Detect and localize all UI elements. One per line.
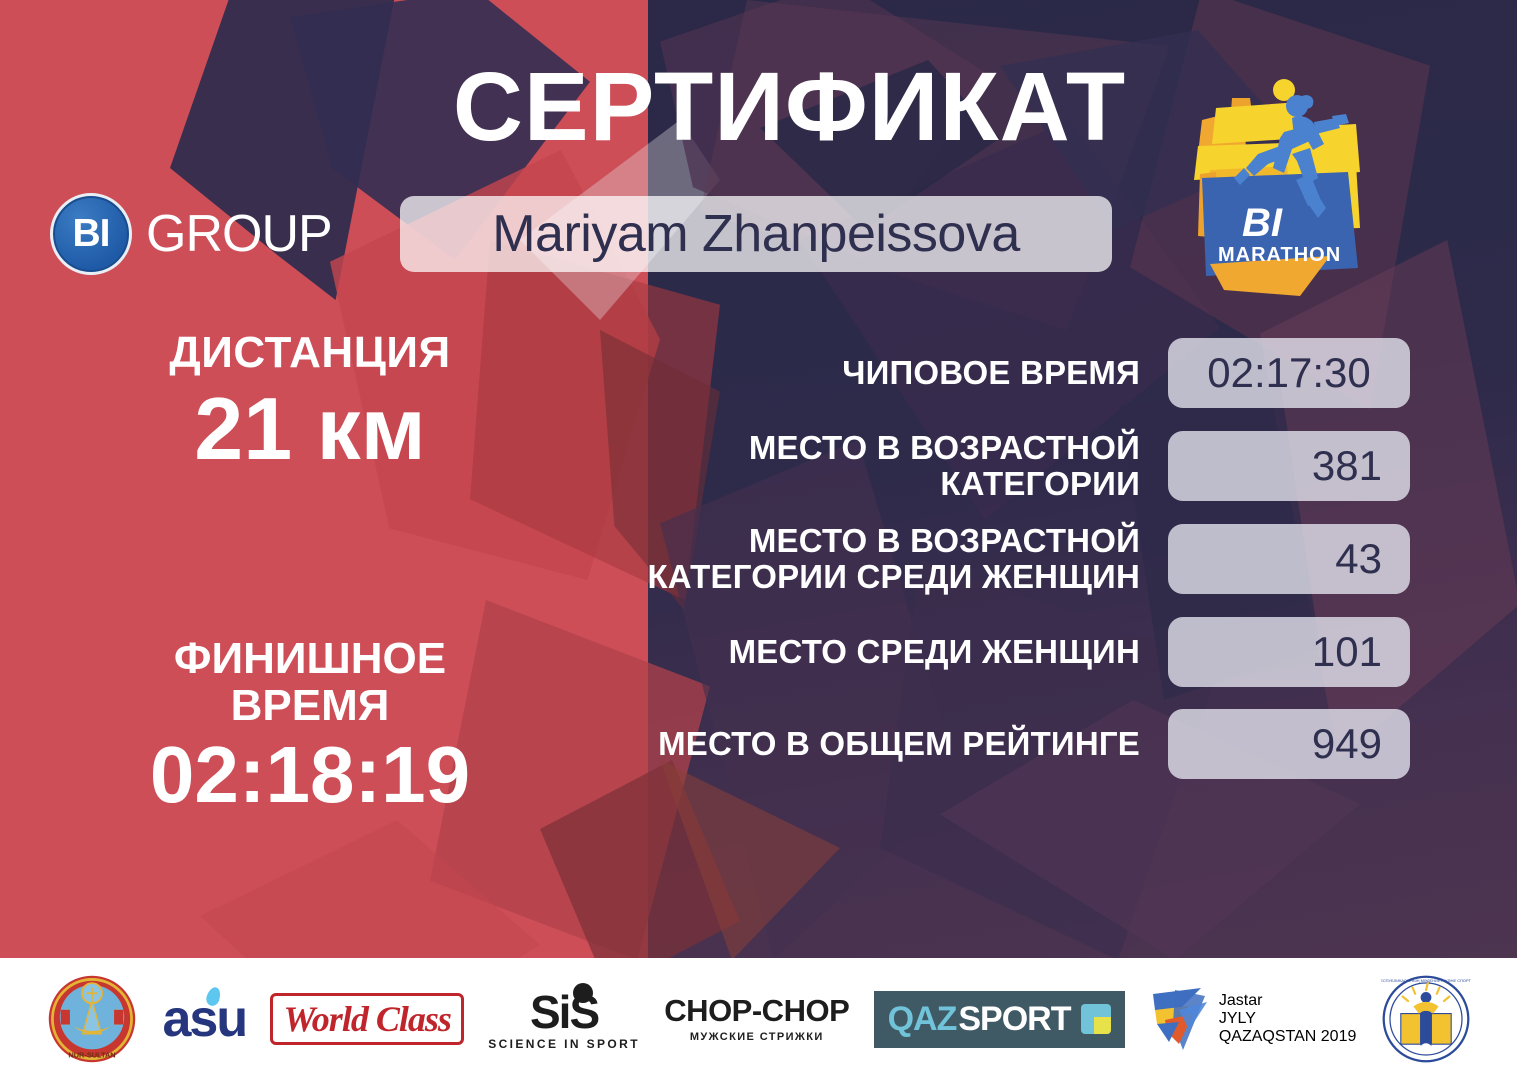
result-value: 02:17:30 bbox=[1168, 338, 1410, 408]
result-row: ЧИПОВОЕ ВРЕМЯ 02:17:30 bbox=[620, 338, 1410, 408]
jastar-subtitle: QAZAQSTAN 2019 bbox=[1219, 1028, 1357, 1046]
result-label: ЧИПОВОЕ ВРЕМЯ bbox=[620, 355, 1168, 391]
asu-text: asu bbox=[163, 990, 247, 1048]
sis-wordmark: SiS bbox=[488, 989, 640, 1035]
result-value: 43 bbox=[1168, 524, 1410, 594]
nur-sultan-label: NUR-SULTAN bbox=[69, 1051, 116, 1060]
jastar-jyly-text: JYLY bbox=[1219, 1010, 1357, 1028]
ministry-seal-label: ҚАЗАҚСТАН РЕСПУБЛИКАСЫНЫҢ МӘДЕНИЕТ ЖӘНЕ … bbox=[1381, 978, 1471, 983]
qaz-text: QAZ bbox=[888, 1000, 957, 1039]
results-list: ЧИПОВОЕ ВРЕМЯ 02:17:30 МЕСТО В ВОЗРАСТНО… bbox=[620, 338, 1410, 801]
sponsor-qazsport: QAZ SPORT bbox=[874, 973, 1125, 1065]
bi-marathon-logo: BI MARATHON bbox=[1180, 68, 1380, 303]
athlete-name-badge: Mariyam Zhanpeissova bbox=[400, 196, 1112, 272]
sponsor-ministry: ҚАЗАҚСТАН РЕСПУБЛИКАСЫНЫҢ МӘДЕНИЕТ ЖӘНЕ … bbox=[1381, 973, 1471, 1065]
result-label: МЕСТО В ОБЩЕМ РЕЙТИНГЕ bbox=[620, 726, 1168, 762]
sponsor-world-class: World Class bbox=[270, 973, 463, 1065]
result-row: МЕСТО СРЕДИ ЖЕНЩИН 101 bbox=[620, 617, 1410, 687]
bi-circle-icon: BI bbox=[50, 193, 132, 275]
sponsor-bar: NUR-SULTAN asu World Class SiS SCIENCE I… bbox=[0, 958, 1517, 1080]
chop-chop-wordmark: CHOP-CHOP bbox=[664, 995, 849, 1026]
sis-lockup: SiS SCIENCE IN SPORT bbox=[488, 989, 640, 1050]
sponsor-sis: SiS SCIENCE IN SPORT bbox=[488, 973, 640, 1065]
finish-time-label-line1: ФИНИШНОЕ bbox=[0, 636, 620, 683]
qazsport-lockup: QAZ SPORT bbox=[874, 991, 1125, 1048]
jastar-arrow-icon bbox=[1149, 980, 1219, 1058]
result-row: МЕСТО В ОБЩЕМ РЕЙТИНГЕ 949 bbox=[620, 709, 1410, 779]
marathon-word-text: MARATHON bbox=[1218, 244, 1341, 266]
chop-chop-lockup: CHOP-CHOP МУЖСКИЕ СТРИЖКИ bbox=[664, 995, 849, 1043]
sis-dot-icon bbox=[573, 983, 593, 1003]
finish-time-label-line2: ВРЕМЯ bbox=[0, 683, 620, 730]
result-value: 381 bbox=[1168, 431, 1410, 501]
result-row: МЕСТО В ВОЗРАСТНОЙ КАТЕГОРИИ СРЕДИ ЖЕНЩИ… bbox=[620, 523, 1410, 594]
sponsor-jastar: Jastar JYLY QAZAQSTAN 2019 bbox=[1149, 973, 1357, 1065]
jastar-wordmark: Jastar bbox=[1219, 992, 1357, 1010]
result-value: 101 bbox=[1168, 617, 1410, 687]
certificate-canvas: СЕРТИФИКАТ BI GROUP Mariyam Zhanpeissova bbox=[0, 0, 1517, 1080]
result-label: МЕСТО СРЕДИ ЖЕНЩИН bbox=[620, 634, 1168, 670]
sponsor-asu: asu bbox=[163, 973, 247, 1065]
sponsor-nursultan: NUR-SULTAN bbox=[46, 973, 138, 1065]
asu-wordmark: asu bbox=[163, 993, 247, 1045]
distance-block: ДИСТАНЦИЯ 21 км bbox=[0, 330, 620, 474]
ministry-seal-icon: ҚАЗАҚСТАН РЕСПУБЛИКАСЫНЫҢ МӘДЕНИЕТ ЖӘНЕ … bbox=[1381, 974, 1471, 1064]
distance-label: ДИСТАНЦИЯ bbox=[0, 330, 620, 377]
bi-group-wordmark: GROUP bbox=[146, 204, 332, 264]
marathon-bi-text: BI bbox=[1242, 201, 1283, 245]
bi-mark-label: BI bbox=[73, 212, 110, 256]
chop-chop-tagline: МУЖСКИЕ СТРИЖКИ bbox=[664, 1032, 849, 1043]
distance-value: 21 км bbox=[0, 383, 620, 475]
finish-time-block: ФИНИШНОЕ ВРЕМЯ 02:18:19 bbox=[0, 636, 620, 817]
qazsport-square-icon bbox=[1081, 1004, 1111, 1034]
result-label: МЕСТО В ВОЗРАСТНОЙ КАТЕГОРИИ СРЕДИ ЖЕНЩИ… bbox=[620, 523, 1168, 594]
sponsor-chop-chop: CHOP-CHOP МУЖСКИЕ СТРИЖКИ bbox=[664, 973, 849, 1065]
nur-sultan-emblem-icon: NUR-SULTAN bbox=[46, 973, 138, 1065]
sis-tagline: SCIENCE IN SPORT bbox=[488, 1038, 640, 1050]
result-value: 949 bbox=[1168, 709, 1410, 779]
jastar-lockup: Jastar JYLY QAZAQSTAN 2019 bbox=[1219, 992, 1357, 1046]
finish-time-value: 02:18:19 bbox=[0, 733, 620, 817]
bi-group-logo: BI GROUP bbox=[50, 193, 332, 275]
sport-text: SPORT bbox=[958, 1000, 1070, 1039]
athlete-name: Mariyam Zhanpeissova bbox=[492, 204, 1020, 264]
result-label: МЕСТО В ВОЗРАСТНОЙ КАТЕГОРИИ bbox=[620, 430, 1168, 501]
result-row: МЕСТО В ВОЗРАСТНОЙ КАТЕГОРИИ 381 bbox=[620, 430, 1410, 501]
world-class-wordmark: World Class bbox=[270, 993, 463, 1045]
